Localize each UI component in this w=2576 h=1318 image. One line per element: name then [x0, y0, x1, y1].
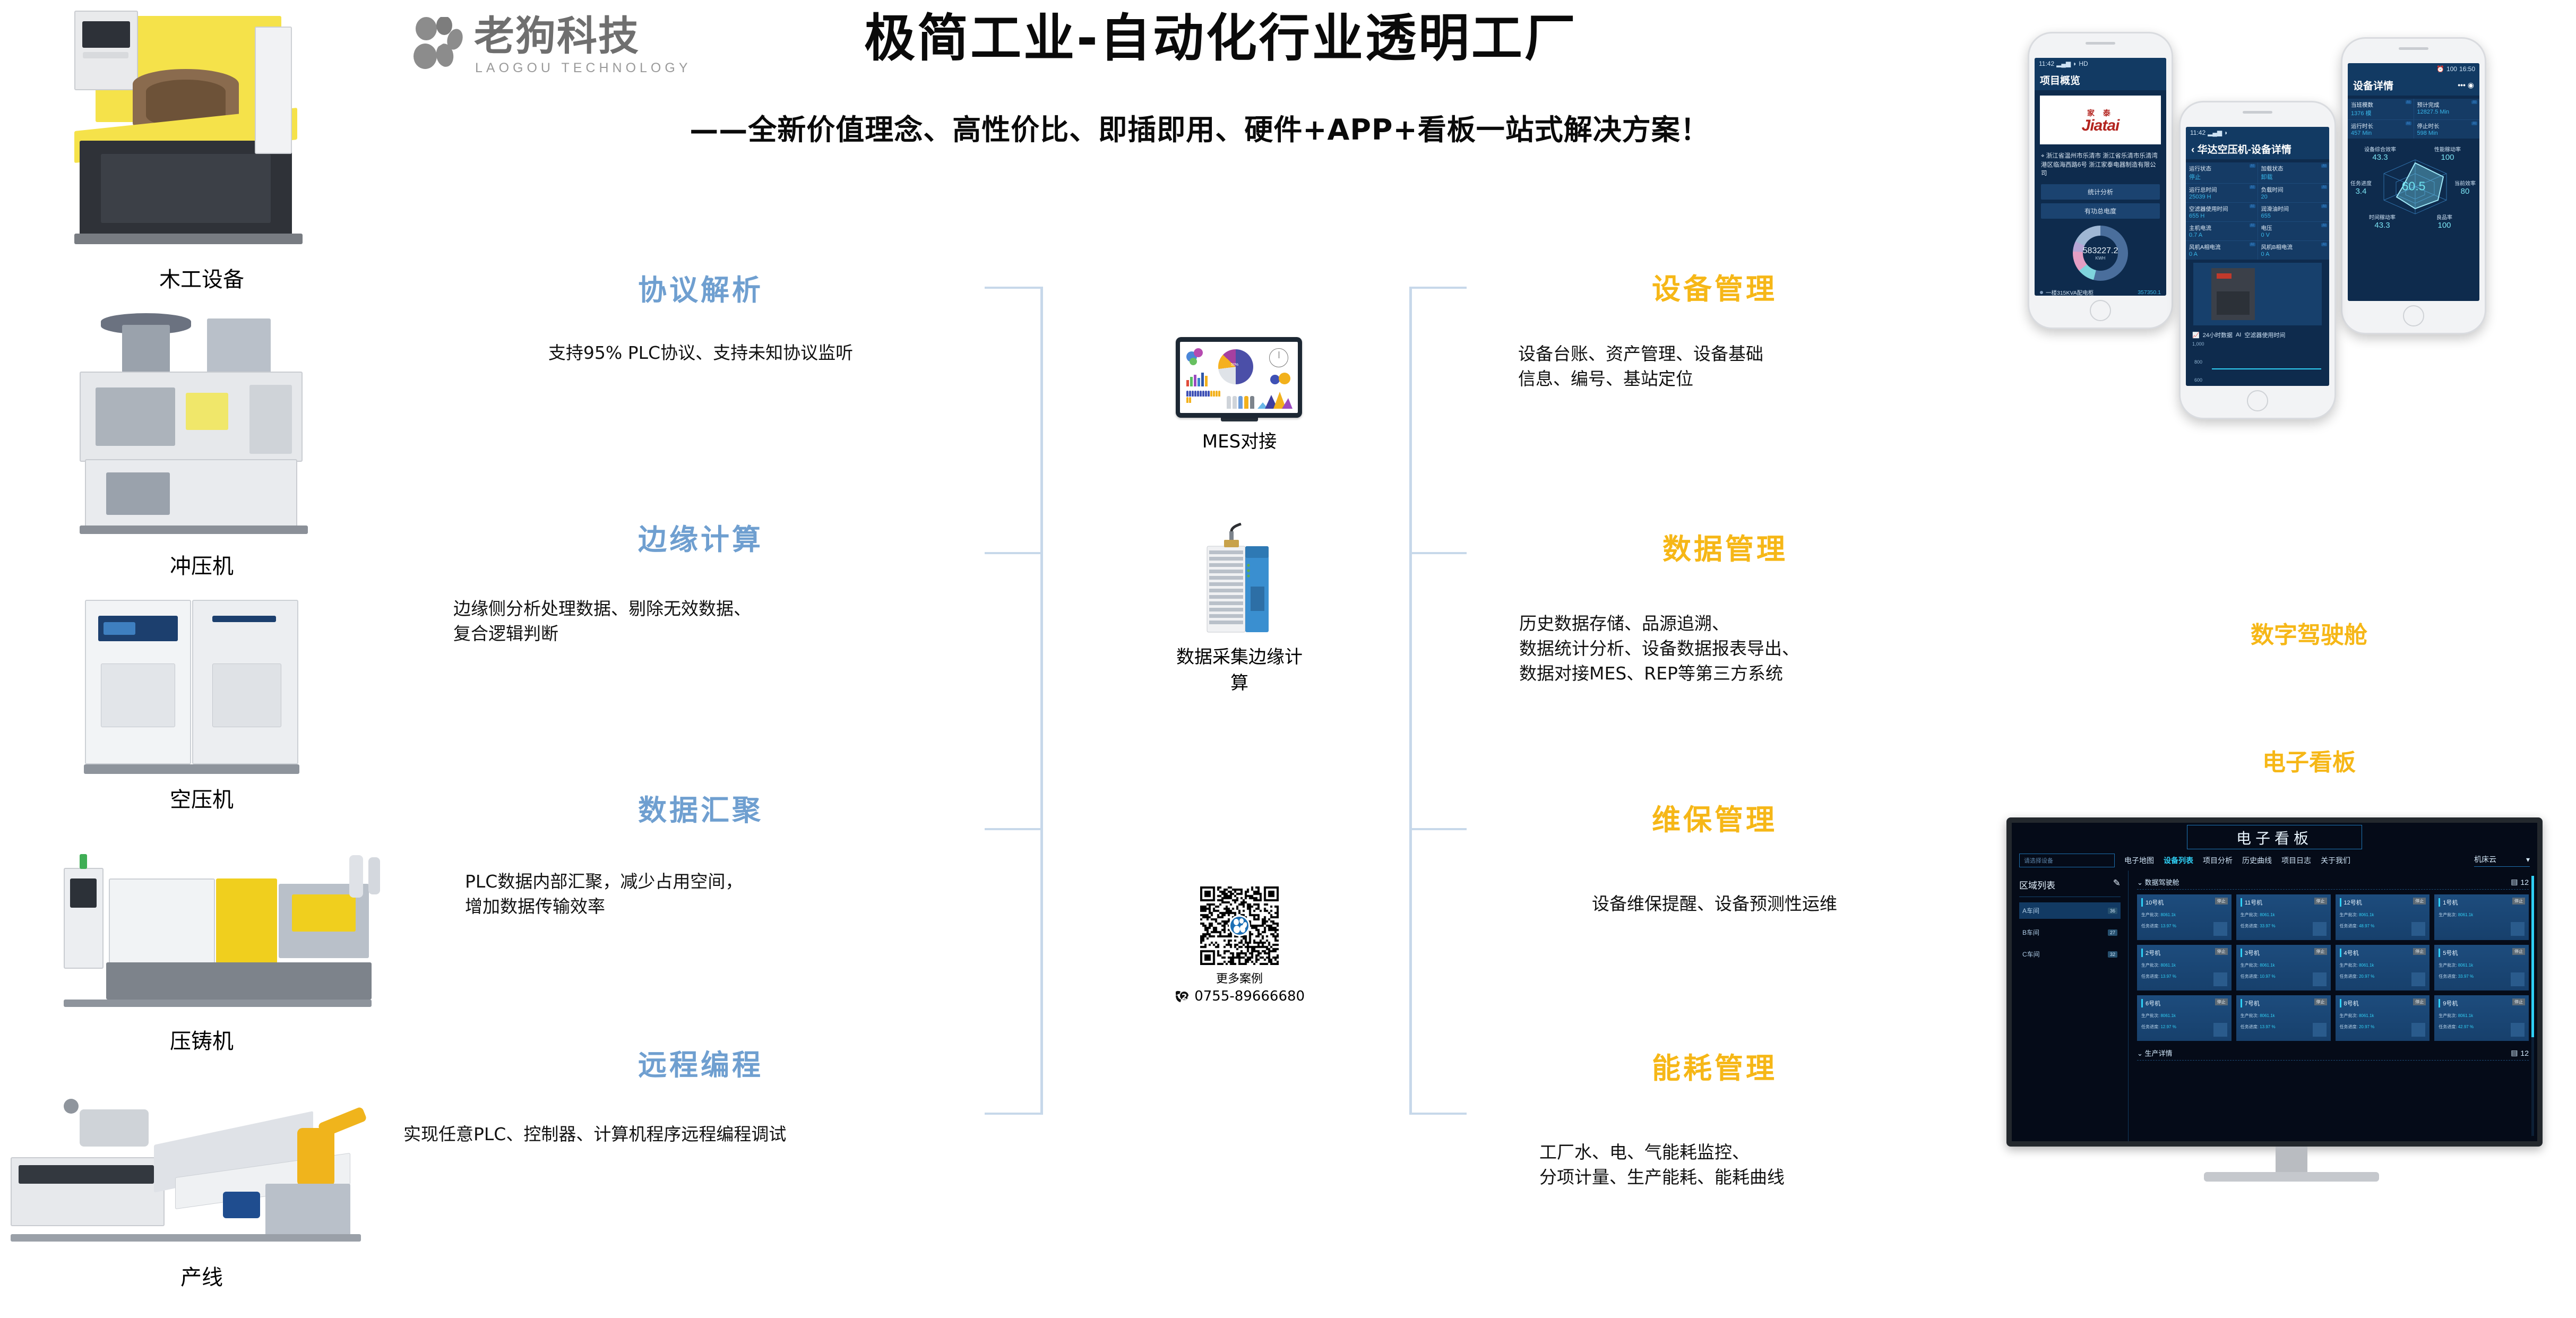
metric-cell: AI 风机A相电流 0 A: [2186, 241, 2258, 260]
line-chart: 1,000 800 600: [2192, 341, 2323, 386]
machine-gallery: 木工设备 冲压机: [0, 0, 403, 1318]
phone-title: 设备详情: [2353, 78, 2393, 92]
device-card-grid: 10号机停止生产批次: 8061.1k任务进度: 13.97 %11号机停止生产…: [2137, 894, 2529, 1041]
ai-badge: AI: [2321, 185, 2327, 189]
device-name: 8号机: [2340, 999, 2426, 1007]
radar-axis-value: 43.3: [2362, 221, 2403, 230]
radar-axis-label: 良品率: [2436, 215, 2452, 221]
device-batch: 生产批次: 8061.1k: [2141, 962, 2227, 968]
metric-key: 运行状态: [2189, 165, 2254, 173]
machine-caption: 空压机: [0, 782, 403, 813]
metric-cell: AI 运行状态 停止: [2186, 162, 2258, 183]
feature-energy-management: 能耗管理 工厂水、电、气能耗监控、 分项计量、生产能耗、能耗曲线: [1507, 1054, 1922, 1190]
phone-screen: 11:42 ▂▄▆ ◗ HD 项目概览 家 泰 Jiatai ⌖ 浙江省温州市乐…: [2035, 58, 2166, 296]
metric-value: 0.7 A: [2189, 232, 2254, 238]
hd-icon: HD: [2079, 60, 2088, 67]
tab-project-log[interactable]: 项目日志: [2281, 855, 2311, 866]
status-badge: 停止: [2215, 948, 2228, 955]
feature-title: 协议解析: [441, 276, 961, 305]
device-card[interactable]: 11号机停止生产批次: 8061.1k任务进度: 33.97 %: [2236, 894, 2331, 940]
device-card[interactable]: 2号机停止生产批次: 8061.1k任务进度: 13.97 %: [2137, 945, 2232, 990]
section-label: 数据驾驶舱: [2145, 878, 2179, 886]
device-batch: 生产批次: 8061.1k: [2340, 1013, 2426, 1019]
metric-key: 当班模数: [2351, 101, 2410, 109]
pictogram-chart: [1186, 391, 1220, 403]
tab-device-list[interactable]: 设备列表: [2164, 855, 2193, 866]
feature-desc: PLC数据内部汇聚，减少占用空间， 增加数据传输效率: [441, 869, 961, 919]
feature-desc: 实现任意PLC、控制器、计算机程序远程编程调试: [403, 1122, 961, 1147]
radar-axis-label: 性能稼动率: [2434, 147, 2461, 153]
tab-history-curve[interactable]: 历史曲线: [2242, 855, 2272, 866]
mes-caption: MES对接: [1176, 427, 1303, 453]
chart-title: 24小时数据: [2203, 331, 2233, 339]
metric-key: 风机B相电流: [2261, 243, 2327, 251]
phone-number-row: 24 0755-89666680: [1165, 988, 1314, 1004]
gear-icon: [2511, 922, 2525, 936]
kanban-body: 区域列表 ✎ A车间 36 B车间 27 C车间 32: [2012, 871, 2537, 1141]
title-hex-frame: [2187, 825, 2362, 849]
radar-axis-value: 100: [2425, 221, 2463, 230]
tab-project-analysis[interactable]: 项目分析: [2203, 855, 2233, 866]
donut-value: 583227.2: [2083, 246, 2118, 256]
machine-caption: 冲压机: [0, 549, 403, 580]
metric-value: 卸载: [2261, 173, 2327, 181]
phone-title: 项目概览: [2035, 70, 2166, 90]
feature-desc: 历史数据存储、品源追溯、 数据统计分析、设备数据报表导出、 数据对接MES、RE…: [1507, 611, 1943, 686]
area-name: A车间: [2022, 906, 2039, 915]
line-chart-icon: 📈: [2192, 332, 2200, 339]
qr-block: 更多案例 24 0755-89666680: [1165, 886, 1314, 1004]
status-badge: 停止: [2413, 948, 2426, 955]
ai-badge: AI: [2250, 164, 2255, 168]
phone-screen: 11:42 ▂▄▆ ◗ ‹ 华达空压机-设备详情 AI 运行状态 停止 AI 加…: [2186, 127, 2329, 386]
metric-cell: AI 运行总时间 25039 H: [2186, 184, 2258, 202]
monitor-bezel: 电子看板 请选择设备 电子地图 设备列表 项目分析 历史曲线 项目日志 关于我们…: [2006, 817, 2543, 1147]
alarm-icon: ⏰: [2436, 65, 2444, 73]
list-item: 一楼315KVA配电柜 357350.1: [2040, 287, 2161, 296]
address-text: 浙江省温州市乐清市 浙江省乐清市乐清湾港区临海西路6号 浙江家泰电器制造有限公司: [2041, 153, 2158, 177]
device-batch: 生产批次: 8061.1k: [2241, 912, 2327, 918]
clock-icon: [1269, 348, 1288, 367]
radar-axis: 设备综合效率 43.3: [2357, 145, 2403, 162]
ai-badge: AI: [2321, 164, 2327, 168]
machine-item: 产线: [0, 1078, 403, 1291]
metric-cell: AI 空滤器使用时间 655 H: [2186, 203, 2258, 221]
cockpit-caption: 数字驾驶舱: [2097, 616, 2521, 650]
donut-ring: 583227.2 KWH: [2073, 226, 2128, 281]
monitor-stand: [1221, 418, 1258, 421]
device-name: 12号机: [2340, 898, 2426, 907]
location-pin-icon: ⌖: [2041, 153, 2044, 159]
radar-axis-value: 80: [2450, 187, 2479, 196]
device-search-input[interactable]: 请选择设备: [2019, 854, 2115, 867]
phone-project-overview: 11:42 ▂▄▆ ◗ HD 项目概览 家 泰 Jiatai ⌖ 浙江省温州市乐…: [2028, 32, 2173, 329]
device-name: 10号机: [2141, 898, 2227, 907]
status-badge: 停止: [2314, 948, 2327, 955]
radar-axis-value: 100: [2425, 153, 2470, 162]
device-card[interactable]: 4号机停止生产批次: 8061.1k任务进度: 20.97 %: [2336, 945, 2430, 990]
radar-axis-label: 时间稼动率: [2369, 215, 2396, 221]
metric-value: 655: [2261, 213, 2327, 219]
feature-title: 维保管理: [1507, 806, 1922, 834]
kanban-monitor: 电子看板 请选择设备 电子地图 设备列表 项目分析 历史曲线 项目日志 关于我们…: [2006, 817, 2576, 1285]
radar-axis-label: 设备综合效率: [2364, 147, 2396, 153]
metric-cell: AI 运行时长 457 Min: [2348, 120, 2414, 139]
ai-badge: AI: [2471, 122, 2477, 125]
machine-item: 压铸机: [0, 847, 403, 1055]
metric-key: 电压: [2261, 224, 2327, 232]
gear-icon: [2313, 1023, 2327, 1037]
metric-value: 0 A: [2189, 251, 2254, 257]
feature-title: 数据管理: [1507, 535, 1943, 564]
cloud-dropdown[interactable]: 机床云 ▾: [2474, 854, 2530, 867]
phone-air-compressor-detail: 11:42 ▂▄▆ ◗ ‹ 华达空压机-设备详情 AI 运行状态 停止 AI 加…: [2179, 101, 2336, 419]
metric-key: 润滑油时间: [2261, 205, 2327, 213]
device-batch: 生产批次: 8061.1k: [2439, 962, 2525, 968]
device-name: 4号机: [2340, 949, 2426, 957]
section-label: 生产详情: [2145, 1049, 2173, 1057]
energy-legend: 一楼315KVA配电柜 357350.1 一楼630KVA配电柜 65854.7…: [2035, 286, 2166, 296]
stat-analysis-button[interactable]: 统计分析: [2041, 184, 2160, 200]
signal-icon: ▂▄▆: [2208, 129, 2222, 136]
wifi-icon: ◗: [2224, 129, 2228, 136]
device-batch: 生产批次: 8061.1k: [2439, 912, 2525, 918]
radar-axis-label: 任务进度: [2350, 181, 2372, 187]
phone-speaker: [2086, 42, 2115, 45]
section-name: ⌄ 生产详情: [2137, 1048, 2173, 1058]
feature-data-aggregation: 数据汇聚 PLC数据内部汇聚，减少占用空间， 增加数据传输效率: [441, 796, 961, 919]
donut-center: 583227.2 KWH: [2083, 236, 2118, 271]
status-time: 16:50: [2459, 65, 2475, 73]
metric-key: 预计完成: [2417, 101, 2477, 109]
monitor-frame: 50%: [1176, 337, 1302, 418]
collapse-icon[interactable]: ⌄: [2137, 878, 2143, 886]
status-badge: 停止: [2512, 948, 2525, 955]
kanban-navbar: 请选择设备 电子地图 设备列表 项目分析 历史曲线 项目日志 关于我们 机床云 …: [2012, 850, 2537, 871]
collapse-icon[interactable]: ⌄: [2137, 1049, 2143, 1057]
feature-desc: 工厂水、电、气能耗监控、 分项计量、生产能耗、能耗曲线: [1507, 1140, 1922, 1190]
metric-value: 457 Min: [2351, 130, 2410, 136]
device-batch: 生产批次: 8061.1k: [2340, 962, 2426, 968]
phone-speaker: [2243, 111, 2272, 114]
metric-key: 空滤器使用时间: [2189, 205, 2254, 213]
pie-label: 50%: [1231, 363, 1238, 367]
feature-title: 设备管理: [1507, 275, 1922, 304]
kanban-screen: 电子看板 请选择设备 电子地图 设备列表 项目分析 历史曲线 项目日志 关于我们…: [2012, 823, 2537, 1141]
metric-value: 655 H: [2189, 213, 2254, 219]
metric-value: 12827.5 Min: [2417, 109, 2477, 115]
ai-badge: AI: [2321, 204, 2327, 208]
edit-icon[interactable]: ✎: [2113, 878, 2121, 891]
monitor-neck: [2276, 1147, 2307, 1172]
machine-caption: 木工设备: [0, 262, 403, 293]
metric-value: 0 V: [2261, 232, 2327, 238]
vertical-scrollbar[interactable]: [2531, 876, 2534, 1136]
metric-key: 风机A相电流: [2189, 243, 2254, 251]
phone-device-detail-oee: ⏰ 100 16:50 设备详情 ••• ◉ AI 当班模数 1376 模 AI…: [2341, 37, 2486, 334]
signal-icon: ▂▄▆: [2056, 60, 2071, 67]
radar-center-value: 60.5: [2402, 179, 2426, 194]
status-badge: 停止: [2215, 998, 2228, 1005]
device-card[interactable]: 10号机停止生产批次: 8061.1k任务进度: 13.97 %: [2137, 894, 2232, 940]
count-value: 12: [2520, 878, 2529, 886]
feature-edge-computing: 边缘计算 边缘侧分析处理数据、剔除无效数据、 复合逻辑判断: [441, 526, 961, 647]
metric-value: 停止: [2189, 173, 2254, 181]
phone-title: 华达空压机-设备详情: [2198, 144, 2291, 156]
legend-value: 357350.1: [2138, 289, 2161, 296]
kanban-caption: 电子看板: [2097, 743, 2521, 777]
chart-series-name: 空滤器使用时间: [2244, 331, 2285, 339]
gear-icon: [2213, 1023, 2227, 1037]
metric-cell: AI 负载时间 20: [2258, 184, 2330, 202]
gear-icon: [2411, 1023, 2425, 1037]
gear-icon: [2313, 972, 2327, 986]
brand-logo-cn: 老狗科技: [474, 16, 640, 56]
feature-title: 远程编程: [441, 1051, 961, 1080]
device-card[interactable]: 5号机停止生产批次: 8061.1k任务进度: 33.97 %: [2434, 945, 2529, 990]
qr-center-logo-icon: [1229, 915, 1250, 936]
back-icon[interactable]: ‹: [2191, 144, 2194, 156]
project-address: ⌖ 浙江省温州市乐清市 浙江省乐清市乐清湾港区临海西路6号 浙江家泰电器制造有限…: [2035, 150, 2166, 180]
woodworking-machine-image: [42, 5, 361, 260]
ai-badge: AI: [2236, 332, 2241, 338]
brand-logo: 老狗科技 LAOGOU TECHNOLOGY: [411, 16, 714, 74]
metric-value: 0 A: [2261, 251, 2327, 257]
poster-canvas: 老狗科技 LAOGOU TECHNOLOGY 极简工业-自动化行业透明工厂 ——…: [0, 0, 2576, 1318]
feature-data-management: 数据管理 历史数据存储、品源追溯、 数据统计分析、设备数据报表导出、 数据对接M…: [1507, 535, 1943, 686]
kanban-main: ⌄ 数据驾驶舱 ▤ 12 10号机停止生产批次: 8061.1k任务进度: 13…: [2129, 871, 2537, 1141]
device-name: 7号机: [2241, 999, 2327, 1007]
status-badge: 停止: [2512, 898, 2525, 904]
status-badge: 停止: [2512, 998, 2525, 1005]
device-batch: 生产批次: 8061.1k: [2340, 912, 2426, 918]
device-batch: 生产批次: 8061.1k: [2439, 1013, 2525, 1019]
metric-cell: AI 风机B相电流 0 A: [2258, 241, 2330, 260]
device-name: 9号机: [2439, 999, 2525, 1007]
feature-title: 能耗管理: [1507, 1054, 1922, 1083]
monitor-base: [2204, 1172, 2379, 1182]
device-card[interactable]: 12号机停止生产批次: 8061.1k任务进度: 48.97 %: [2336, 894, 2430, 940]
feature-desc: 设备维保提醒、设备预测性运维: [1507, 892, 1922, 917]
ai-badge: AI: [2406, 122, 2411, 125]
sidebar-item-area-a[interactable]: A车间 36: [2019, 902, 2121, 919]
metric-key: 负载时间: [2261, 186, 2327, 194]
radar-axis: 时间稼动率 43.3: [2362, 213, 2403, 230]
ai-badge: AI: [2321, 223, 2327, 227]
metric-cell: AI 润滑油时间 655: [2258, 203, 2330, 221]
device-name: 11号机: [2241, 898, 2327, 907]
section-header-cockpit[interactable]: ⌄ 数据驾驶舱 ▤ 12: [2137, 875, 2529, 890]
device-name: 2号机: [2141, 949, 2227, 957]
tel-badge-24: 24: [1182, 992, 1193, 1002]
metric-value: 598 Min: [2417, 130, 2477, 136]
phone-mockups: 11:42 ▂▄▆ ◗ HD 项目概览 家 泰 Jiatai ⌖ 浙江省温州市乐…: [2028, 32, 2576, 510]
energy-donut-chart: 583227.2 KWH: [2035, 222, 2166, 286]
dashboard-screen: 50%: [1180, 342, 1298, 413]
phone-speaker: [2399, 47, 2428, 50]
more-options-icon[interactable]: ••• ◉: [2458, 81, 2474, 90]
gear-icon: [2511, 972, 2525, 986]
jiatai-logo: 家 泰 Jiatai: [2040, 96, 2161, 144]
sidebar-item-area-c[interactable]: C车间 32: [2019, 946, 2121, 962]
metric-key: 运行总时间: [2189, 186, 2254, 194]
chevron-down-icon: ▾: [2526, 855, 2530, 864]
ai-badge: AI: [2406, 100, 2411, 104]
status-badge: 停止: [2413, 998, 2426, 1005]
section-count: ▤ 12: [2511, 877, 2529, 886]
device-name: 1号机: [2439, 898, 2525, 907]
mes-device: 50%: [1176, 337, 1303, 453]
home-button[interactable]: [2090, 300, 2111, 321]
metric-cell: AI 当班模数 1376 模: [2348, 99, 2414, 119]
metric-grid: AI 运行状态 停止 AI 加载状态 卸载 AI 运行总时间 25039 H A…: [2186, 162, 2329, 260]
status-bar: ⏰ 100 16:50: [2348, 63, 2479, 75]
feature-protocol-parsing: 协议解析 支持95% PLC协议、支持未知协议监听: [441, 276, 961, 366]
home-button[interactable]: [2403, 305, 2424, 326]
qr-code[interactable]: [1200, 886, 1279, 965]
qr-caption: 更多案例: [1165, 969, 1314, 986]
machine-caption: 产线: [0, 1260, 403, 1291]
ai-badge: AI: [2471, 100, 2477, 104]
tel-number: 0755-89666680: [1194, 988, 1305, 1004]
list-icon: ▤: [2511, 1048, 2518, 1057]
ai-badge: AI: [2250, 243, 2255, 246]
device-batch: 生产批次: 8061.1k: [2241, 1013, 2327, 1019]
machine-item: 冲压机: [0, 313, 403, 580]
device-card[interactable]: 7号机停止生产批次: 8061.1k任务进度: 13.97 %: [2236, 995, 2331, 1041]
feature-desc: 设备台账、资产管理、设备基础 信息、编号、基站定位: [1507, 342, 1922, 392]
status-badge: 停止: [2215, 898, 2228, 904]
metric-cell: AI 停止时长 598 Min: [2414, 120, 2480, 139]
device-card[interactable]: 3号机停止生产批次: 8061.1k任务进度: 10.97 %: [2236, 945, 2331, 990]
pie-chart: [1218, 349, 1253, 384]
sidebar-header: 区域列表 ✎: [2019, 878, 2121, 897]
total-power-button[interactable]: 有功总电度: [2041, 203, 2160, 219]
dropdown-value: 机床云: [2474, 854, 2496, 865]
feature-remote-programming: 远程编程 实现任意PLC、控制器、计算机程序远程编程调试: [441, 1051, 961, 1147]
left-bracket: [985, 287, 1043, 1115]
radar-axis: 任务进度 3.4: [2348, 179, 2376, 196]
gear-icon: [2411, 972, 2425, 986]
ai-badge: AI: [2250, 223, 2255, 227]
area-count: 32: [2108, 951, 2117, 958]
device-name: 3号机: [2241, 949, 2327, 957]
tab-electronic-map[interactable]: 电子地图: [2124, 855, 2154, 866]
area-name: C车间: [2022, 950, 2040, 959]
kanban-title-bar: 电子看板: [2012, 823, 2537, 850]
sidebar-item-area-b[interactable]: B车间 27: [2019, 924, 2121, 941]
tab-about-us[interactable]: 关于我们: [2321, 855, 2350, 866]
status-time: 11:42: [2039, 60, 2054, 67]
area-name: B车间: [2022, 928, 2039, 937]
section-header-production[interactable]: ⌄ 生产详情 ▤ 12: [2137, 1046, 2529, 1061]
metric-value: 25039 H: [2189, 194, 2254, 200]
radar-axis-value: 43.3: [2357, 153, 2403, 162]
donut-pair: [1270, 373, 1290, 387]
device-name: 6号机: [2141, 999, 2227, 1007]
metric-cell: AI 加载状态 卸载: [2258, 162, 2330, 183]
device-name: 5号机: [2439, 949, 2525, 957]
feature-maintenance-management: 维保管理 设备维保提醒、设备预测性运维: [1507, 806, 1922, 917]
device-card[interactable]: 9号机停止生产批次: 8061.1k任务进度: 42.97 %: [2434, 995, 2529, 1041]
donut-unit: KWH: [2096, 256, 2106, 261]
feature-equipment-management: 设备管理 设备台账、资产管理、设备基础 信息、编号、基站定位: [1507, 275, 1922, 392]
metric-cell: AI 电压 0 V: [2258, 222, 2330, 240]
people-figures: [1227, 396, 1254, 409]
gateway-image: [1200, 523, 1279, 637]
metric-cell: AI 预计完成 12827.5 Min: [2414, 99, 2480, 119]
metric-value: 1376 模: [2351, 109, 2410, 117]
metric-value: 20: [2261, 194, 2327, 200]
feature-title: 数据汇聚: [441, 796, 961, 825]
page-title: 极简工业-自动化行业透明工厂: [791, 12, 1651, 65]
die-casting-machine-image: [5, 847, 398, 1022]
metric-key: 加载状态: [2261, 165, 2327, 173]
kanban-sidebar: 区域列表 ✎ A车间 36 B车间 27 C车间 32: [2012, 871, 2129, 1141]
metric-key: 主机电流: [2189, 224, 2254, 232]
metric-grid: AI 当班模数 1376 模 AI 预计完成 12827.5 Min AI 运行…: [2348, 99, 2479, 139]
air-compressor-image: [53, 595, 350, 780]
device-card[interactable]: 6号机停止生产批次: 8061.1k任务进度: 12.97 %: [2137, 995, 2232, 1041]
radar-axis-label: 当前效率: [2454, 181, 2476, 187]
jiatai-logo-en: Jiatai: [2082, 118, 2120, 133]
chart-header: 📈 24小时数据 AI 空滤器使用时间: [2186, 329, 2329, 341]
metric-key: 停止时长: [2417, 122, 2477, 130]
battery-level: 100: [2446, 65, 2457, 73]
machine-caption: 压铸机: [0, 1024, 403, 1055]
feature-desc: 支持95% PLC协议、支持未知协议监听: [441, 341, 961, 366]
metric-cell: AI 主机电流 0.7 A: [2186, 222, 2258, 240]
gateway-caption: 数据采集边缘计算: [1168, 642, 1311, 694]
status-time: 11:42: [2190, 129, 2205, 136]
radar-axis: 当前效率 80: [2450, 179, 2479, 196]
status-bar: 11:42 ▂▄▆ ◗: [2186, 127, 2329, 139]
area-chart: [1257, 391, 1293, 409]
radar-axis-value: 3.4: [2348, 187, 2376, 196]
status-badge: 停止: [2314, 898, 2327, 904]
gear-icon: [2511, 1023, 2525, 1037]
radar-axis: 良品率 100: [2425, 213, 2463, 230]
gear-icon: [2213, 922, 2227, 936]
wifi-icon: ◗: [2073, 60, 2077, 67]
paw-logo-icon: [411, 17, 470, 70]
ai-badge: AI: [2250, 204, 2255, 208]
status-badge: 停止: [2314, 998, 2327, 1005]
gear-icon: [2313, 922, 2327, 936]
device-batch: 生产批次: 8061.1k: [2141, 912, 2227, 918]
production-line-image: [0, 1078, 403, 1258]
bar-chart: [1186, 372, 1208, 386]
page-subtitle: ——全新价值理念、高性价比、即插即用、硬件+APP+看板一站式解决方案！: [595, 106, 1805, 148]
ai-badge: AI: [2250, 185, 2255, 189]
section-count: ▤ 12: [2511, 1048, 2529, 1057]
device-card[interactable]: 1号机停止生产批次: 8061.1k: [2434, 894, 2529, 940]
oee-radar-chart: 60.5 设备综合效率 43.3 性能稼动率 100 当前效率 80 良品率 1…: [2348, 142, 2479, 231]
area-count: 36: [2108, 908, 2117, 914]
brand-logo-en: LAOGOU TECHNOLOGY: [475, 61, 692, 76]
list-icon: ▤: [2511, 877, 2518, 886]
feature-title: 边缘计算: [441, 526, 961, 554]
right-bracket: [1409, 287, 1468, 1115]
device-card[interactable]: 8号机停止生产批次: 8061.1k任务进度: 20.97 %: [2336, 995, 2430, 1041]
phone-screen: ⏰ 100 16:50 设备详情 ••• ◉ AI 当班模数 1376 模 AI…: [2348, 63, 2479, 301]
feature-desc: 边缘侧分析处理数据、剔除无效数据、 复合逻辑判断: [441, 597, 961, 647]
ai-badge: AI: [2321, 243, 2327, 246]
device-batch: 生产批次: 8061.1k: [2241, 962, 2327, 968]
home-button[interactable]: [2247, 390, 2268, 411]
telephone-24h-icon: 24: [1174, 990, 1190, 1003]
status-badge: 停止: [2413, 898, 2426, 904]
